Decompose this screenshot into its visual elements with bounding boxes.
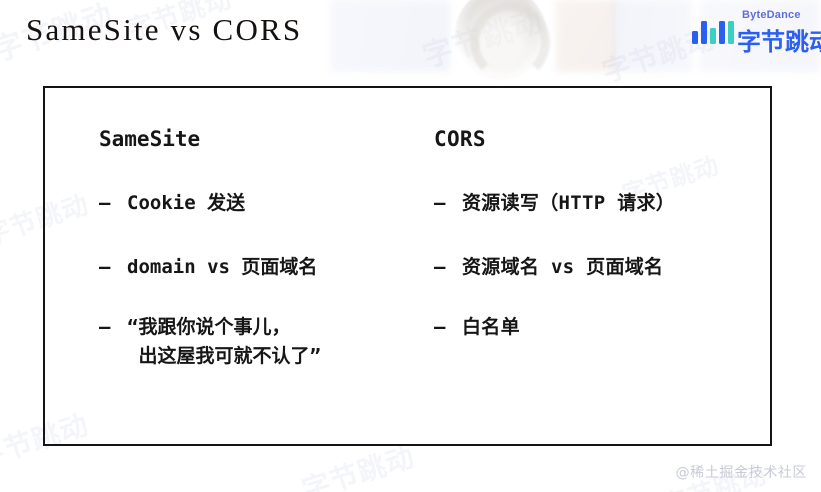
list-item: – 白名单 (434, 313, 520, 342)
bullet-dash: – (99, 189, 127, 218)
mascot-artwork-arc (470, 2, 550, 82)
list-item-label: 白名单 (462, 313, 520, 342)
bullet-dash: – (434, 253, 462, 282)
list-item-label: 资源域名 vs 页面域名 (462, 253, 663, 282)
background-watermark-text: 字节跳动 (416, 0, 548, 76)
slide-canvas: 字节跳动 字节跳动 字节跳动 字节跳动 字节跳动 字节跳动 字节跳动 字节跳动 … (0, 0, 821, 492)
column-heading: CORS (434, 127, 486, 151)
list-item: – Cookie 发送 (99, 189, 245, 218)
column-heading: SameSite (99, 127, 200, 151)
page-title: SameSite vs CORS (26, 12, 302, 48)
list-item: – “我跟你说个事儿， 出这屋我可就不认了” (99, 313, 321, 372)
list-item-label: Cookie 发送 (127, 189, 245, 218)
banner-smear (330, 0, 450, 72)
content-box: SameSite – Cookie 发送 – domain vs 页面域名 – … (43, 86, 772, 446)
bullet-dash: – (99, 313, 127, 342)
bullet-dash: – (434, 313, 462, 342)
bytedance-logo: ByteDance 字节跳动 (692, 9, 821, 49)
list-item-label: 资源读写（HTTP 请求） (462, 189, 675, 218)
list-item: – 资源域名 vs 页面域名 (434, 253, 663, 282)
banner-smear (612, 0, 692, 72)
list-item: – domain vs 页面域名 (99, 253, 317, 282)
bullet-dash: – (434, 189, 462, 218)
bar-chart-icon (692, 20, 736, 44)
credit-watermark: @稀土掘金技术社区 (676, 462, 807, 482)
logo-chinese-text: 字节跳动 (737, 22, 821, 57)
list-item-label: domain vs 页面域名 (127, 253, 317, 282)
banner-smear (556, 0, 616, 72)
logo-english-text: ByteDance (742, 9, 801, 21)
list-item-label: “我跟你说个事儿， 出这屋我可就不认了” (127, 313, 321, 372)
bullet-dash: – (99, 253, 127, 282)
mascot-artwork (455, 0, 547, 80)
list-item: – 资源读写（HTTP 请求） (434, 189, 675, 218)
